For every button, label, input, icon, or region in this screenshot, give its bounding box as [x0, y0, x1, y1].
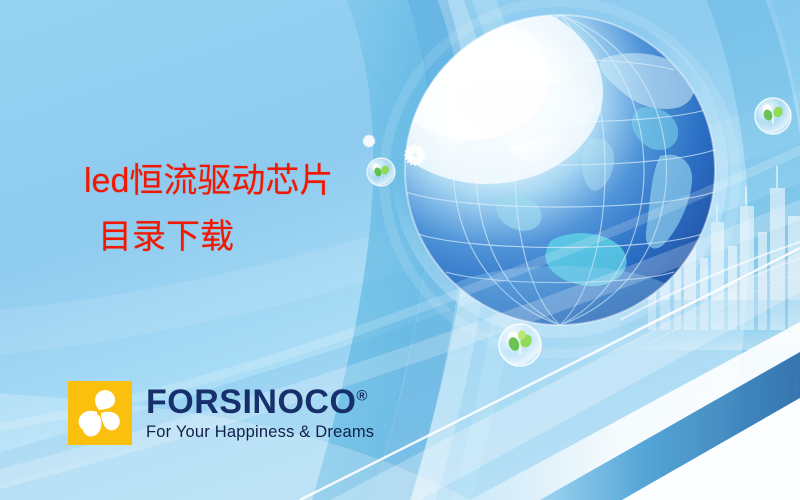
- headline-text: led恒流驱动芯片 目录下载: [84, 160, 333, 259]
- bubble-sprout-icon: [755, 98, 791, 134]
- company-logo[interactable]: FORSINOCO® For Your Happiness & Dreams: [68, 381, 374, 445]
- headline-line-2: 目录下载: [98, 216, 333, 260]
- promo-banner: led恒流驱动芯片 目录下载 FORSINOCO® For Your Happi…: [0, 0, 800, 500]
- headline-line-1: led恒流驱动芯片: [84, 160, 333, 204]
- bubble-sprout-icon: [367, 158, 395, 186]
- pinwheel-flower-icon: [68, 381, 132, 445]
- logo-wordmark-text: FORSINOCO: [146, 383, 356, 421]
- headline-cjk: 恒流驱动芯片: [129, 163, 333, 200]
- logo-wordmark: FORSINOCO®: [146, 385, 374, 419]
- logo-text-block: FORSINOCO® For Your Happiness & Dreams: [146, 385, 374, 442]
- logo-tagline: For Your Happiness & Dreams: [146, 423, 374, 442]
- bubble-sprout-icon: [499, 324, 541, 366]
- registered-trademark-icon: ®: [356, 387, 368, 404]
- headline-latin: led: [84, 162, 129, 200]
